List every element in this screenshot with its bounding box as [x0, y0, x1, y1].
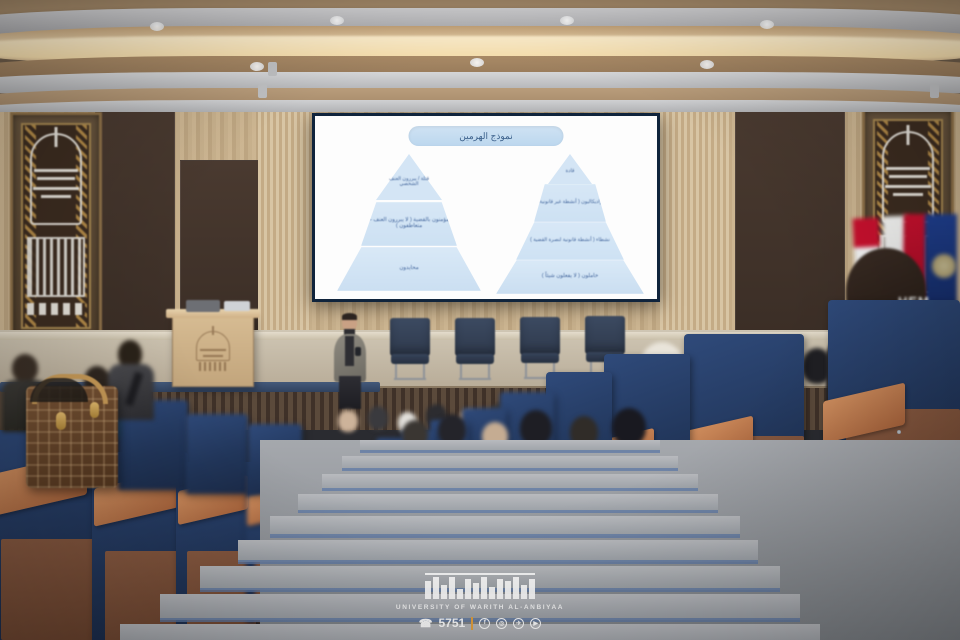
slide-title-text: نموذج الهرمين — [459, 131, 512, 142]
youtube-icon[interactable]: ▶ — [530, 618, 541, 629]
ceiling — [0, 0, 960, 112]
presenter-hair — [342, 313, 357, 320]
wall-dark-panel-left — [95, 108, 175, 338]
watermark-phone: 5751 — [439, 616, 466, 630]
pyramid-right-tier-2: أراديكاليون ( أنشطة غير قانونية ) — [534, 184, 606, 222]
pyramid-left-tier-3-text: محايدون — [399, 266, 418, 272]
presentation-slide: نموذج الهرمين قتلة / يبررون العنف الشخصي… — [315, 116, 657, 299]
phone-handset-icon: ☎ — [419, 617, 433, 630]
auditorium-photo: نموذج الهرمين قتلة / يبررون العنف الشخصي… — [0, 0, 960, 640]
pyramid-left-tier-1-text: قتلة / يبررون العنف الشخصي — [380, 177, 438, 188]
wall-ornament-panel-left — [10, 112, 102, 340]
podium-emblem — [193, 329, 233, 373]
handbag-clasp — [56, 412, 66, 430]
facebook-icon[interactable]: f — [479, 618, 490, 629]
watermark-university-name: UNIVERSITY OF WARITH AL-ANBIYAA — [396, 604, 564, 611]
pyramid-right-tier-4-text: خاملون ( لا يفعلون شيئاً ) — [542, 274, 598, 280]
emblem-pen-left — [55, 127, 58, 147]
handbag — [26, 368, 118, 488]
handbag-stud — [90, 402, 99, 418]
kufic-logo-icon — [425, 573, 535, 599]
pyramid-right: قادة أراديكاليون ( أنشطة غير قانونية ) ن… — [495, 154, 645, 299]
ceiling-spotlight — [760, 20, 774, 29]
stage-chair-2[interactable] — [455, 318, 495, 380]
stage-chair-3[interactable] — [520, 317, 560, 379]
pyramid-left-tier-2-text: مؤمنون بالقضية ( لا يبررون العنف – متعاط… — [363, 218, 455, 230]
stage-chair-1[interactable] — [390, 318, 430, 380]
projection-screen: نموذج الهرمين قتلة / يبررون العنف الشخصي… — [312, 113, 660, 302]
telegram-icon[interactable]: ✈ — [513, 618, 524, 629]
ceiling-spotlight — [700, 60, 714, 69]
ceiling-projector-mount — [268, 62, 277, 76]
pyramid-right-tier-2-text: أراديكاليون ( أنشطة غير قانونية ) — [536, 200, 603, 205]
ceiling-spotlight — [330, 16, 344, 25]
podium — [172, 315, 254, 387]
podium-paper — [224, 301, 250, 311]
instagram-icon[interactable]: ◎ — [496, 618, 507, 629]
ceiling-camera — [258, 84, 267, 98]
slide-title-pill: نموذج الهرمين — [409, 126, 564, 146]
podium-laptop — [186, 300, 220, 312]
presenter-shirt — [345, 336, 354, 366]
ceiling-spotlight — [560, 16, 574, 25]
microphone — [355, 347, 361, 356]
ceiling-spotlight — [250, 62, 264, 71]
pyramid-right-tier-1: قادة — [549, 162, 591, 182]
ceiling-spotlight — [470, 58, 484, 67]
ceiling-camera — [930, 84, 939, 98]
kufic-calligraphy-left — [27, 237, 85, 297]
pyramid-right-tier-1-text: قادة — [566, 169, 575, 174]
watermark: UNIVERSITY OF WARITH AL-ANBIYAA ☎ 5751 f… — [0, 573, 960, 630]
wood-slat-column-right — [660, 105, 732, 337]
pyramid-left-tier-3: محايدون — [337, 247, 481, 291]
watermark-contact-row: ☎ 5751 f ◎ ✈ ▶ — [419, 616, 541, 630]
pyramid-left: قتلة / يبررون العنف الشخصي مؤمنون بالقضي… — [335, 154, 483, 299]
pyramid-left-tier-1: قتلة / يبررون العنف الشخصي — [378, 166, 440, 198]
pyramid-right-tier-4: خاملون ( لا يفعلون شيئاً ) — [496, 260, 644, 294]
emblem-pen-right — [907, 125, 910, 145]
ceiling-spotlight — [150, 22, 164, 31]
pyramid-left-tier-2: مؤمنون بالقضية ( لا يبررون العنف – متعاط… — [361, 202, 457, 246]
watermark-divider — [471, 617, 473, 630]
pyramid-right-tier-3-text: نشطاء ( أنشطة قانونية لنصرة القضية ) — [530, 238, 610, 243]
pyramid-right-tier-3: نشطاء ( أنشطة قانونية لنصرة القضية ) — [516, 222, 624, 260]
wood-slat-column-left — [258, 105, 310, 337]
